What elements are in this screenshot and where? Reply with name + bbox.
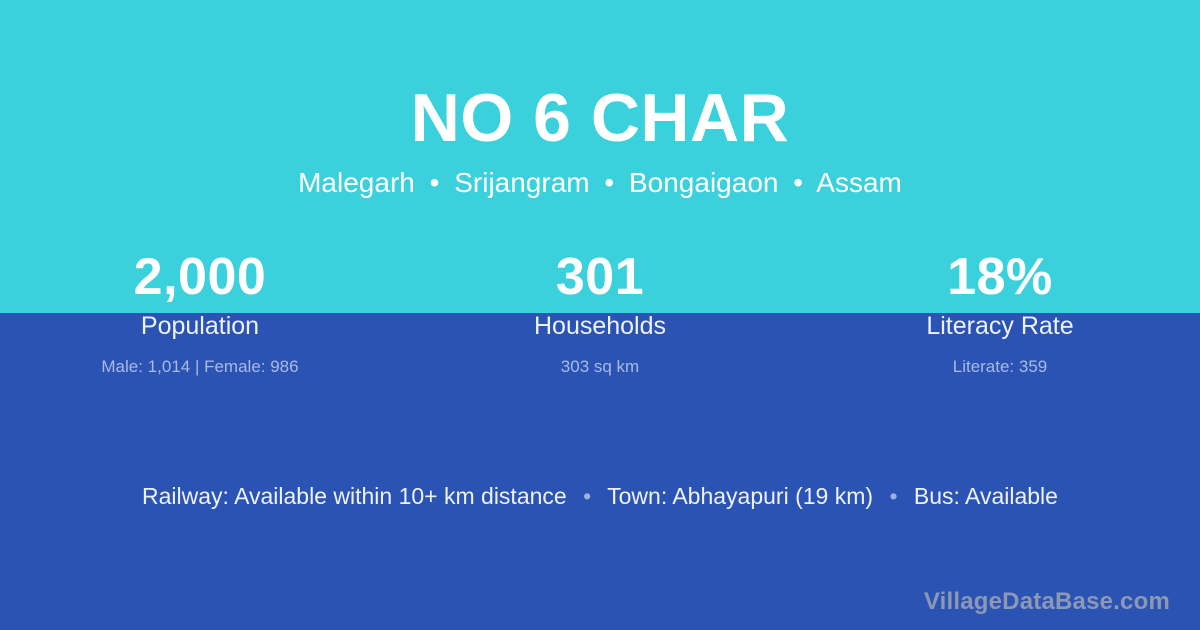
breadcrumb-separator: • [786, 167, 810, 198]
amenity-town: Town: Abhayapuri (19 km) [607, 483, 873, 509]
amenity-bus: Bus: Available [914, 483, 1058, 509]
stat-sublabel: 303 sq km [400, 343, 800, 378]
stat-sublabel: Male: 1,014 | Female: 986 [0, 343, 400, 378]
amenity-railway: Railway: Available within 10+ km distanc… [142, 483, 567, 509]
stat-literacy-rate: 18% Literacy Rate Literate: 359 [800, 246, 1200, 378]
breadcrumb-item-village: Malegarh [298, 167, 415, 198]
stat-population: 2,000 Population Male: 1,014 | Female: 9… [0, 246, 400, 378]
stats-row: 2,000 Population Male: 1,014 | Female: 9… [0, 246, 1200, 378]
amenity-separator: • [879, 483, 907, 509]
stat-sublabel: Literate: 359 [800, 343, 1200, 378]
village-info-card: NO 6 CHAR Malegarh • Srijangram • Bongai… [0, 0, 1200, 630]
breadcrumb: Malegarh • Srijangram • Bongaigaon • Ass… [0, 154, 1200, 200]
page-title: NO 6 CHAR [0, 0, 1200, 154]
breadcrumb-separator: • [423, 167, 447, 198]
site-brand: VillageDataBase.com [924, 588, 1170, 616]
stat-households: 301 Households 303 sq km [400, 246, 800, 378]
breadcrumb-item-state: Assam [816, 167, 902, 198]
amenity-separator: • [573, 483, 601, 509]
stat-label: Literacy Rate [800, 309, 1200, 342]
stat-label: Households [400, 309, 800, 342]
amenities-line: Railway: Available within 10+ km distanc… [0, 482, 1200, 512]
stat-label: Population [0, 309, 400, 342]
stat-value: 2,000 [0, 246, 400, 309]
breadcrumb-separator: • [597, 167, 621, 198]
breadcrumb-item-district: Bongaigaon [629, 167, 778, 198]
card-header: NO 6 CHAR Malegarh • Srijangram • Bongai… [0, 0, 1200, 200]
stat-value: 301 [400, 246, 800, 309]
stat-value: 18% [800, 246, 1200, 309]
breadcrumb-item-block: Srijangram [454, 167, 589, 198]
